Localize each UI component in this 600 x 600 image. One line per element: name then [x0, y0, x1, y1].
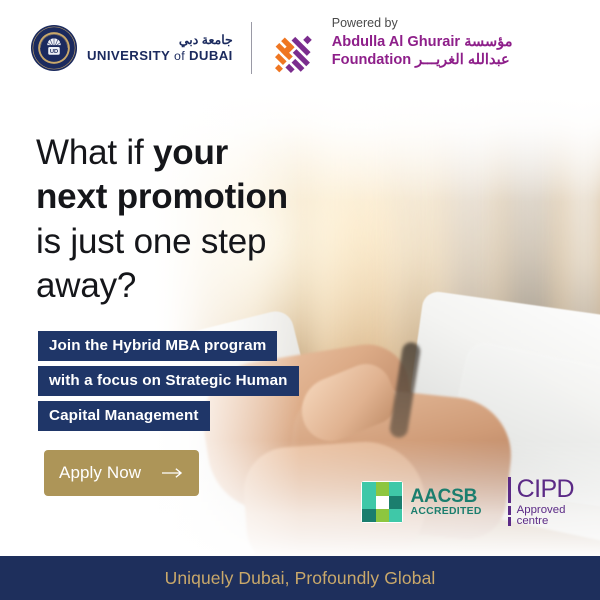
foundation-name-ar-1: مؤسسة: [464, 34, 512, 50]
university-name-block: جامعة دبي UNIVERSITY of DUBAI: [87, 34, 233, 62]
al-ghurair-foundation-logo[interactable]: Powered by Abdulla Al Ghurair مؤسسة Foun…: [268, 16, 513, 80]
foundation-name-en-1: Abdulla Al Ghurair: [332, 34, 460, 50]
headline: What if your next promotion is just one …: [36, 131, 288, 309]
accreditation-logos: AACSB ACCREDITED CIPD Approved centre: [361, 477, 574, 528]
al-ghurair-diamond-mark-icon: [268, 28, 320, 80]
footer-tagline: Uniquely Dubai, Profoundly Global: [165, 568, 436, 589]
university-word-of: of: [170, 49, 189, 63]
university-word-dubai: DUBAI: [189, 48, 233, 63]
logo-divider: [251, 22, 252, 74]
headline-line-4: away?: [36, 264, 288, 308]
program-bar-3: Capital Management: [38, 401, 210, 431]
cipd-bar: [508, 517, 511, 526]
cipd-bars-icon: [508, 477, 511, 528]
program-bar-1: Join the Hybrid MBA program: [38, 331, 277, 361]
cipd-bar: [508, 506, 511, 515]
header-logo-bar: UD جامعة دبي UNIVERSITY of DUBAI: [0, 0, 600, 96]
cipd-centre-label: centre: [517, 516, 574, 528]
program-bars: Join the Hybrid MBA program with a focus…: [38, 331, 299, 436]
aacsb-name: AACSB: [411, 487, 482, 506]
cipd-logo[interactable]: CIPD Approved centre: [508, 477, 574, 528]
powered-by-label: Powered by: [332, 16, 513, 30]
foundation-name-line2: Foundation عبدالله الغريـــر: [332, 52, 513, 70]
headline-line-3: is just one step: [36, 220, 288, 264]
headline-text-plain: What if: [36, 133, 153, 172]
university-word-university: UNIVERSITY: [87, 48, 170, 63]
advertisement-canvas: UD جامعة دبي UNIVERSITY of DUBAI: [0, 0, 600, 600]
foundation-name-en-2: Foundation: [332, 52, 411, 68]
aacsb-text-block: AACSB ACCREDITED: [411, 487, 482, 517]
footer-banner: Uniquely Dubai, Profoundly Global: [0, 556, 600, 600]
university-of-dubai-logo[interactable]: UD جامعة دبي UNIVERSITY of DUBAI: [30, 24, 233, 72]
headline-text-bold-next-promotion: next promotion: [36, 177, 288, 216]
cipd-text-block: CIPD Approved centre: [517, 477, 574, 528]
university-of-dubai-seal-icon: UD: [30, 24, 78, 72]
arrow-right-icon: [162, 467, 184, 479]
program-bar-2: with a focus on Strategic Human: [38, 366, 299, 396]
university-name-arabic: جامعة دبي: [87, 34, 233, 47]
svg-text:UD: UD: [50, 49, 58, 55]
foundation-text-block: Powered by Abdulla Al Ghurair مؤسسة Foun…: [332, 16, 513, 70]
cipd-name: CIPD: [517, 477, 574, 503]
foundation-name-line1: Abdulla Al Ghurair مؤسسة: [332, 34, 513, 52]
headline-text-bold-your: your: [153, 133, 228, 172]
aacsb-logo[interactable]: AACSB ACCREDITED: [361, 481, 482, 523]
cipd-bar: [508, 477, 511, 503]
aacsb-status: ACCREDITED: [411, 507, 482, 518]
headline-line-1: What if your: [36, 131, 288, 175]
headline-line-2: next promotion: [36, 175, 288, 219]
apply-now-label: Apply Now: [59, 463, 141, 483]
university-name-english: UNIVERSITY of DUBAI: [87, 49, 233, 62]
foundation-name-ar-2: عبدالله الغريـــر: [415, 52, 510, 68]
aacsb-square-mark-icon: [361, 481, 403, 523]
apply-now-button[interactable]: Apply Now: [44, 450, 199, 496]
